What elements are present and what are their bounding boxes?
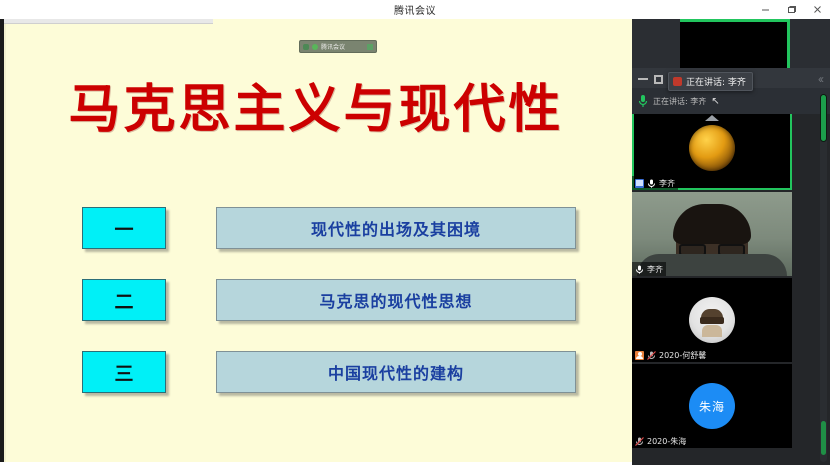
shared-screen-slide: 马克思主义与现代性 一 现代性的出场及其困境 二 马克思的现代性思想 三 中国现… [0, 19, 632, 465]
avatar: 朱海 [689, 383, 735, 429]
window-controls [752, 0, 830, 19]
window-title: 腾讯会议 [394, 2, 436, 17]
close-button[interactable] [804, 0, 830, 19]
signal-icon [303, 44, 309, 50]
speaking-tooltip-text: 正在讲话: 李齐 [686, 75, 746, 88]
maximize-button[interactable] [778, 0, 804, 19]
scrollbar-thumb[interactable] [820, 94, 827, 142]
participant-name: 2020-朱海 [647, 436, 686, 447]
outline-text-3: 中国现代性的建构 [216, 351, 576, 393]
outline-text-1: 现代性的出场及其困境 [216, 207, 576, 249]
stop-share-icon[interactable] [367, 44, 373, 50]
outline-number-3: 三 [82, 351, 166, 393]
participant-tiles: 李齐 李齐 [632, 106, 796, 450]
table-row[interactable]: 李齐 [632, 106, 792, 190]
scrollbar-bottom-indicator[interactable] [821, 421, 826, 455]
speaking-tooltip: 正在讲话: 李齐 [668, 72, 753, 91]
panel-scrollbar[interactable] [820, 94, 827, 462]
slide-top-strip [0, 19, 213, 24]
minimize-button[interactable] [752, 0, 778, 19]
overlay-minimize-icon[interactable] [638, 78, 648, 80]
person-icon [635, 351, 644, 360]
recording-dot-icon [312, 44, 318, 50]
tile-label-4: 2020-朱海 [632, 434, 689, 448]
chevron-left-icon: ‹‹ [818, 72, 822, 86]
slide-title: 马克思主义与现代性 [0, 67, 632, 142]
outline-text-2: 马克思的现代性思想 [216, 279, 576, 321]
window-titlebar: 腾讯会议 [0, 0, 830, 19]
tencent-meeting-window: 腾讯会议 马克思主义与现代性 [0, 0, 830, 465]
mic-icon [635, 265, 644, 274]
caret-up-icon [705, 115, 719, 121]
speaking-status-bar: 正在讲话: 李齐 ↖ [632, 88, 830, 114]
mic-muted-icon [647, 351, 656, 360]
floating-toolbar-label: 腾讯会议 [321, 42, 345, 51]
list-item: 二 马克思的现代性思想 [0, 279, 632, 351]
outline-number-2: 二 [82, 279, 166, 321]
tile-partial-top[interactable] [680, 19, 790, 71]
tile-label-2: 李齐 [632, 262, 666, 276]
avatar-face [699, 309, 725, 335]
list-item: 三 中国现代性的建构 [0, 351, 632, 423]
overlay-restore-icon[interactable] [654, 75, 663, 84]
tile-label-1: 李齐 [632, 176, 678, 190]
table-row[interactable]: 李齐 [632, 192, 792, 276]
avatar [689, 125, 735, 171]
tile-label-3: 2020-何舒馨 [632, 348, 709, 362]
slide-outline-list: 一 现代性的出场及其困境 二 马克思的现代性思想 三 中国现代性的建构 [0, 207, 632, 423]
floating-meeting-toolbar[interactable]: 腾讯会议 [299, 40, 377, 53]
mic-muted-icon [635, 437, 644, 446]
outline-number-1: 一 [82, 207, 166, 249]
participant-name: 李齐 [647, 264, 663, 275]
avatar [689, 297, 735, 343]
list-item: 一 现代性的出场及其困境 [0, 207, 632, 279]
participant-name: 李齐 [659, 178, 675, 189]
table-row[interactable]: 2020-何舒馨 [632, 278, 792, 362]
speaker-icon [673, 77, 682, 86]
screen-share-icon [635, 179, 644, 188]
cursor-icon: ↖ [711, 96, 719, 107]
mic-icon [638, 94, 648, 108]
participant-name: 2020-何舒馨 [659, 350, 706, 361]
mic-icon [647, 179, 656, 188]
table-row[interactable]: 朱海 2020-朱海 [632, 364, 792, 448]
speaking-status-text: 正在讲话: 李齐 [653, 96, 706, 107]
